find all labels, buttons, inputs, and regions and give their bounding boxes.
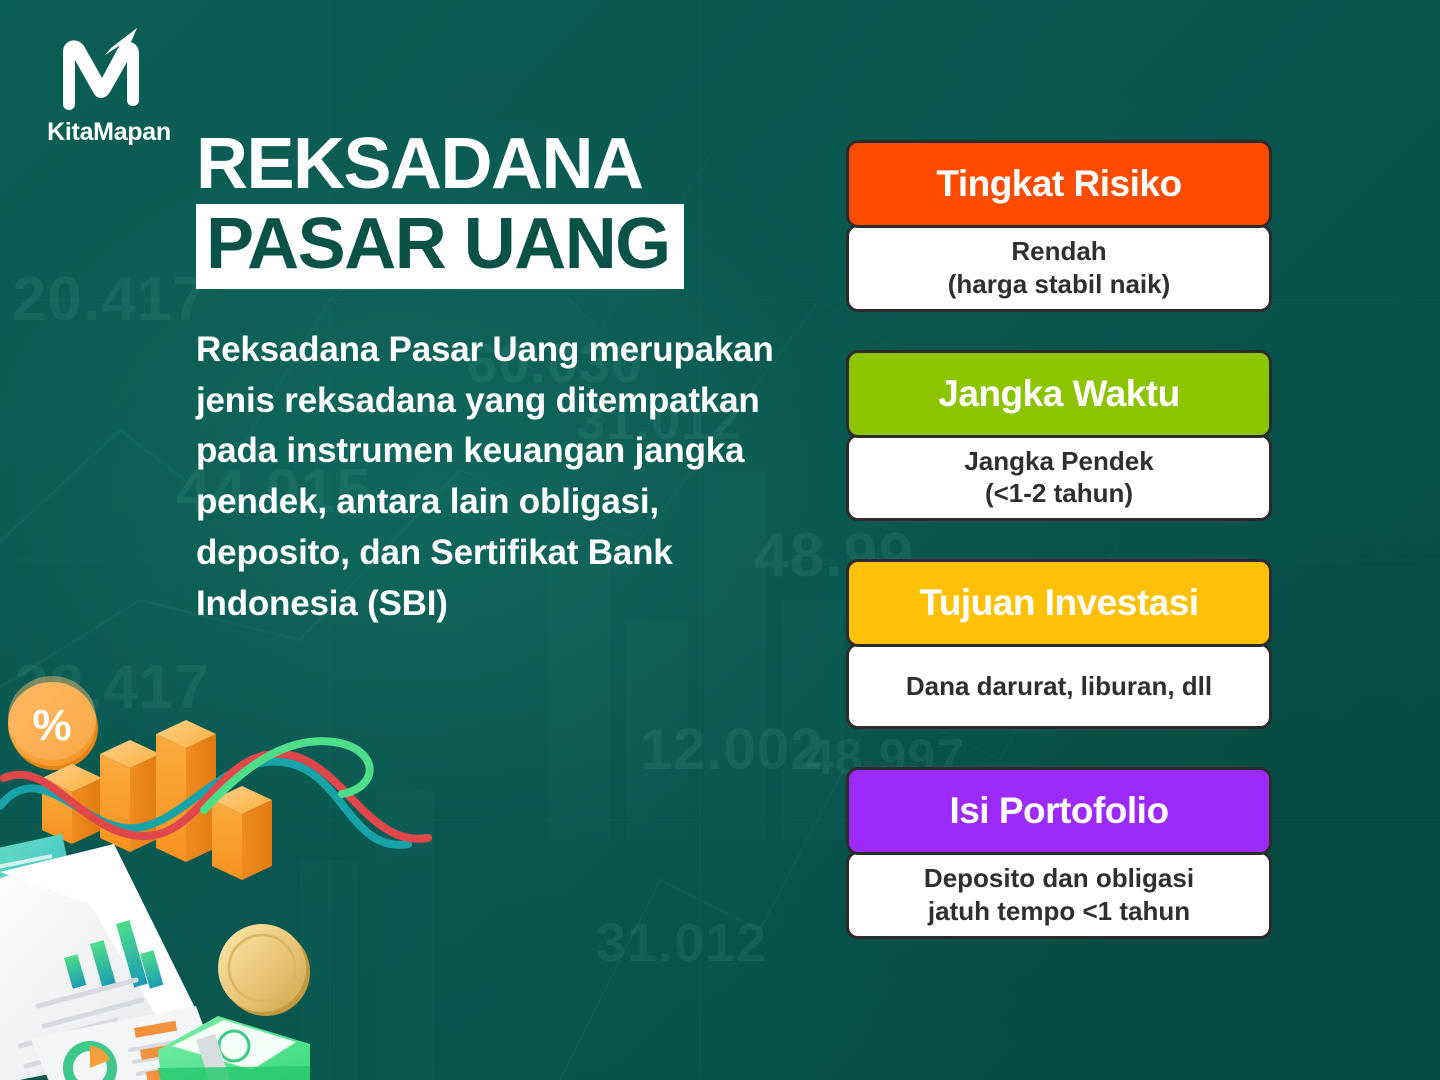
info-cards-list: Tingkat RisikoRendah(harga stabil naik)J… <box>846 140 1272 939</box>
info-card-body-line: Jangka Pendek <box>964 445 1153 478</box>
info-card-body-line: (harga stabil naik) <box>948 268 1171 301</box>
left-content-column: REKSADANA PASAR UANG Reksadana Pasar Uan… <box>196 130 776 629</box>
info-card: Isi PortofolioDeposito dan obligasijatuh… <box>846 767 1272 939</box>
kitamapan-m-arrow-logo-icon <box>55 26 163 112</box>
info-card-body: Rendah(harga stabil naik) <box>846 224 1272 312</box>
info-card: Jangka WaktuJangka Pendek(<1-2 tahun) <box>846 350 1272 522</box>
page-title-line-1: REKSADANA <box>196 130 776 198</box>
info-card-header: Tujuan Investasi <box>846 559 1272 647</box>
info-card-header: Isi Portofolio <box>846 767 1272 855</box>
info-card-body-line: (<1-2 tahun) <box>985 477 1133 510</box>
info-card-header: Tingkat Risiko <box>846 140 1272 228</box>
info-card-body: Dana darurat, liburan, dll <box>846 643 1272 729</box>
info-card-body-line: Rendah <box>1011 235 1106 268</box>
infographic-canvas: 20.41744.01560.03031.01248.9912.00231.01… <box>0 0 1440 1080</box>
info-card-body-line: jatuh tempo <1 tahun <box>928 895 1190 928</box>
brand-logo: KitaMapan <box>34 26 184 147</box>
info-card-body-line: Dana darurat, liburan, dll <box>906 670 1212 703</box>
info-card-body: Jangka Pendek(<1-2 tahun) <box>846 434 1272 522</box>
info-card: Tingkat RisikoRendah(harga stabil naik) <box>846 140 1272 312</box>
info-card-header: Jangka Waktu <box>846 350 1272 438</box>
page-title-highlight-box: PASAR UANG <box>196 204 684 288</box>
page-title-line-2: PASAR UANG <box>206 204 670 284</box>
brand-name: KitaMapan <box>34 118 184 147</box>
description-paragraph: Reksadana Pasar Uang merupakan jenis rek… <box>196 325 776 630</box>
info-card-body: Deposito dan obligasijatuh tempo <1 tahu… <box>846 851 1272 939</box>
info-card: Tujuan InvestasiDana darurat, liburan, d… <box>846 559 1272 729</box>
info-card-body-line: Deposito dan obligasi <box>924 862 1194 895</box>
